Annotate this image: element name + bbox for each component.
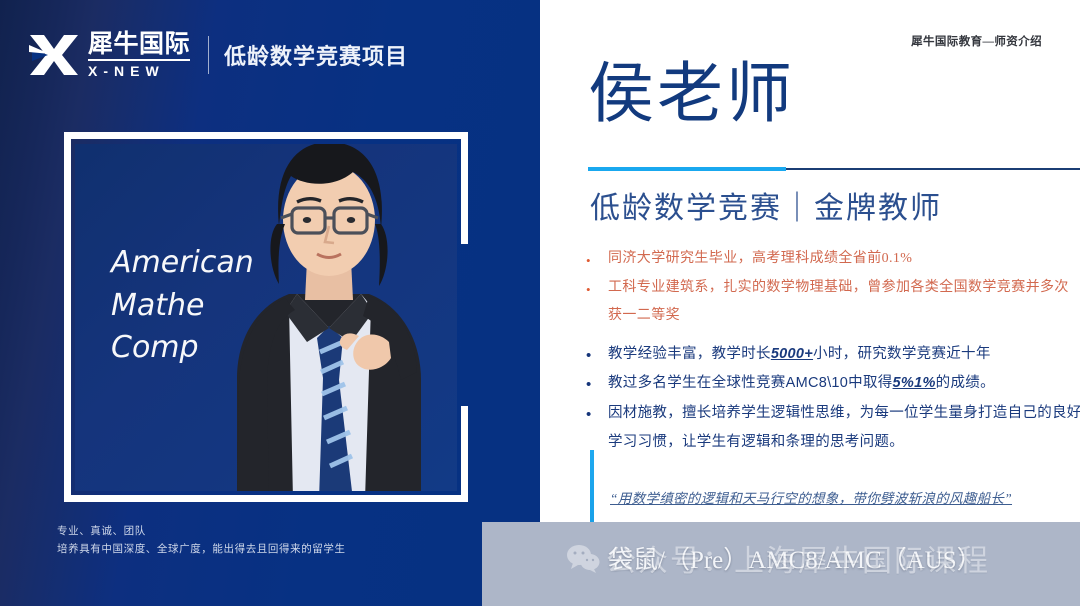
list-item: • 教学经验丰富，教学时长5000+小时，研究数学竞赛近十年 [586,340,1080,369]
brand-wordmark: 犀牛国际 X-NEW [88,32,190,78]
teacher-portrait-illustration [193,144,457,491]
title-rule-accent [588,167,786,171]
list-item: • 教过多名学生在全球性竞赛AMC8\10中取得5%1%的成绩。 [586,369,1080,398]
x-new-rhino-logo-icon [28,31,80,79]
frame-border-top [64,132,468,139]
portrait-photo: American Mathe Comp [75,144,457,491]
brand-name-cn: 犀牛国际 [88,32,190,61]
text-post: 的成绩。 [936,375,995,391]
bullet-marker: • [586,274,608,296]
list-item-text: 因材施教，擅长培养学生逻辑性思维，为每一位学生量身打造自己的良好学习习惯，让学生… [608,399,1080,458]
slide-canvas: 犀牛国际 X-NEW 低龄数学竞赛项目 American Mathe Comp [0,0,1080,606]
page-subtitle: 低龄数学竞赛｜金牌教师 [590,183,942,227]
brand-name-en: X-NEW [88,64,190,78]
bullet-marker: • [586,369,608,392]
text-post: 小时，研究数学竞赛近十年 [813,346,991,362]
text-highlight: 5%1% [893,375,936,391]
program-tag: 低龄数学竞赛项目 [224,39,408,71]
list-item: • 同济大学研究生毕业，高考理科成绩全省前0.1% [586,245,1080,273]
list-item-text: 同济大学研究生毕业，高考理科成绩全省前0.1% [608,245,1080,273]
slogan-line-2: 培养具有中国深度、全球广度，能出得去且回得来的留学生 [57,540,346,558]
frame-border-left [64,132,71,502]
bullet-marker: • [586,245,608,267]
portrait-frame: American Mathe Comp [64,132,468,502]
brand-divider [208,36,209,74]
frame-border-right-top [461,132,468,244]
text-pre: 教过多名学生在全球性竞赛AMC8\10中取得 [608,375,893,391]
left-slogan: 专业、真诚、团队 培养具有中国深度、全球广度，能出得去且回得来的留学生 [57,522,346,559]
credentials-list: • 同济大学研究生毕业，高考理科成绩全省前0.1% • 工科专业建筑系，扎实的数… [586,245,1080,457]
list-item-text: 教学经验丰富，教学时长5000+小时，研究数学竞赛近十年 [608,340,1080,369]
text-highlight: 5000+ [771,346,813,362]
frame-border-bottom [64,495,468,502]
list-item-text: 工科专业建筑系，扎实的数学物理基础，曾参加各类全国数学竞赛并多次获一二等奖 [608,274,1080,330]
page-kicker: 犀牛国际教育—师资介绍 [911,33,1042,49]
bullet-marker: • [586,340,608,363]
bullet-marker: • [586,399,608,422]
text-pre: 教学经验丰富，教学时长 [608,346,771,362]
list-item-text: 教过多名学生在全球性竞赛AMC8\10中取得5%1%的成绩。 [608,369,1080,398]
course-label: 袋鼠/（Pre）AMC8/AMC（AUS） [608,540,982,576]
page-title: 侯老师 [588,62,795,128]
slogan-line-1: 专业、真诚、团队 [57,522,346,540]
left-blue-panel: 犀牛国际 X-NEW 低龄数学竞赛项目 American Mathe Comp [0,0,540,606]
right-content-panel: 犀牛国际教育—师资介绍 侯老师 低龄数学竞赛｜金牌教师 • 同济大学研究生毕业，… [540,0,1080,606]
credentials-group-orange: • 同济大学研究生毕业，高考理科成绩全省前0.1% • 工科专业建筑系，扎实的数… [586,245,1080,330]
list-item: • 因材施教，擅长培养学生逻辑性思维，为每一位学生量身打造自己的良好学习习惯，让… [586,399,1080,458]
title-rule-base [786,168,1080,170]
teacher-quote: “用数学缜密的逻辑和天马行空的想象，带你劈波斩浪的风趣船长” [610,487,1080,507]
list-item: • 工科专业建筑系，扎实的数学物理基础，曾参加各类全国数学竞赛并多次获一二等奖 [586,274,1080,330]
frame-border-right-bottom [461,406,468,502]
credentials-group-blue: • 教学经验丰富，教学时长5000+小时，研究数学竞赛近十年 • 教过多名学生在… [586,340,1080,457]
title-rule [588,167,1080,171]
brand-lockup: 犀牛国际 X-NEW 低龄数学竞赛项目 [28,26,408,84]
